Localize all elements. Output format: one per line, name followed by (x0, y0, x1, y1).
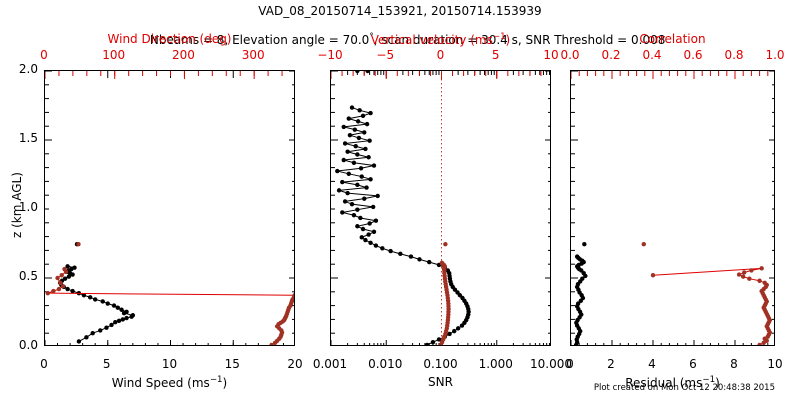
data-point (355, 183, 359, 187)
series-line (653, 268, 770, 345)
data-point (374, 219, 378, 223)
data-point (55, 276, 59, 280)
data-point (356, 119, 360, 123)
y-tick-label: 1.0 (19, 201, 38, 213)
x-tick-label: 0.010 (368, 358, 402, 370)
data-point (352, 213, 356, 217)
data-point (742, 270, 746, 274)
data-point (367, 221, 371, 225)
data-point (119, 308, 123, 312)
data-point (355, 152, 359, 156)
top-x-tick-label: 0.2 (601, 49, 620, 61)
data-point (427, 260, 431, 264)
x-tick-label: 6 (689, 358, 697, 370)
data-point (113, 320, 117, 324)
data-point (335, 169, 339, 173)
data-point (345, 150, 349, 154)
series-line (48, 269, 295, 345)
top-x-tick-label: 0 (437, 49, 445, 61)
data-point (343, 199, 347, 203)
data-point (63, 276, 67, 280)
top-x-tick-label: 100 (102, 49, 125, 61)
top-x-axis-label: Vertical velocity (ms−1) (371, 33, 510, 46)
data-point (417, 257, 421, 261)
data-point (46, 291, 50, 295)
data-point (60, 273, 64, 277)
data-point (372, 163, 376, 167)
data-point (84, 335, 88, 339)
data-point (363, 238, 367, 242)
data-point (358, 216, 362, 220)
x-tick-label: 8 (730, 358, 738, 370)
data-point (350, 105, 354, 109)
data-point (366, 232, 370, 236)
data-point (575, 254, 579, 258)
page-title: VAD_08_20150714_153921, 20150714.153939 (258, 5, 541, 17)
data-point (443, 242, 447, 246)
x-tick-label: 15 (225, 358, 240, 370)
y-tick-label: 0.5 (19, 270, 38, 282)
data-point (741, 274, 745, 278)
x-tick-label: 10 (767, 358, 782, 370)
data-point (352, 161, 356, 165)
data-point (76, 242, 80, 246)
y-tick-label: 0.0 (19, 339, 38, 351)
data-point (447, 332, 451, 336)
data-point (374, 243, 378, 247)
data-point (364, 185, 368, 189)
data-point (109, 323, 113, 327)
x-tick-label: 2 (607, 358, 615, 370)
data-point (343, 141, 347, 145)
data-point (759, 266, 763, 270)
data-point (366, 155, 370, 159)
data-point (388, 249, 392, 253)
data-point (345, 191, 349, 195)
x-tick-label: 20 (287, 358, 302, 370)
data-point (363, 147, 367, 151)
x-tick-label: 0.001 (313, 358, 347, 370)
data-point (757, 343, 761, 346)
data-point (360, 174, 364, 178)
data-point (398, 252, 402, 256)
data-point (72, 265, 76, 269)
data-point (361, 114, 365, 118)
top-x-tick-label: 10 (543, 49, 558, 61)
x-tick-label: 0 (566, 358, 574, 370)
data-point (367, 138, 371, 142)
data-point (106, 301, 110, 305)
data-point (65, 287, 69, 291)
top-x-tick-label: −10 (317, 49, 342, 61)
data-point (371, 205, 375, 209)
x-tick-label: 0 (40, 358, 48, 370)
data-point (70, 289, 74, 293)
data-point (104, 325, 108, 329)
data-point (112, 303, 116, 307)
data-point (355, 70, 359, 73)
data-point (452, 329, 456, 333)
data-point (131, 313, 135, 317)
data-point (342, 158, 346, 162)
top-x-axis-label: Wind Direction (deg) (108, 33, 232, 45)
data-point (124, 316, 128, 320)
data-point (582, 242, 586, 246)
y-tick-label: 2.0 (19, 63, 38, 75)
x-axis-label: Residual (ms−1) (625, 376, 720, 389)
data-point (651, 273, 655, 277)
data-point (361, 227, 365, 231)
data-point (368, 177, 372, 181)
panel-snr (330, 70, 551, 346)
data-point (348, 133, 352, 137)
data-point (431, 340, 435, 344)
data-point (357, 108, 361, 112)
top-x-tick-label: −5 (376, 49, 394, 61)
data-point (365, 122, 369, 126)
x-tick-label: 1.000 (479, 358, 513, 370)
top-x-tick-label: 0.6 (683, 49, 702, 61)
x-axis-label: Wind Speed (ms−1) (112, 376, 227, 389)
data-point (101, 299, 105, 303)
data-point (360, 235, 364, 239)
data-point (116, 305, 120, 309)
data-point (347, 172, 351, 176)
top-x-tick-label: 300 (242, 49, 265, 61)
data-point (440, 261, 444, 265)
top-x-axis-label: Correlation (639, 33, 705, 45)
x-tick-label: 5 (103, 358, 111, 370)
data-point (57, 287, 61, 291)
data-point (62, 267, 66, 271)
data-point (342, 125, 346, 129)
data-point (354, 144, 358, 148)
data-point (357, 136, 361, 140)
data-point (58, 281, 62, 285)
data-point (61, 284, 65, 288)
data-point (350, 202, 354, 206)
data-point (362, 196, 366, 200)
top-x-tick-label: 0.4 (642, 49, 661, 61)
data-point (642, 242, 646, 246)
data-point (375, 194, 379, 198)
data-point (359, 166, 363, 170)
panel-residual (570, 70, 775, 346)
top-x-tick-label: 1.0 (765, 49, 784, 61)
top-x-tick-label: 5 (492, 49, 500, 61)
data-point (77, 339, 81, 343)
data-point (757, 279, 761, 283)
data-point (409, 254, 413, 258)
data-point (124, 310, 128, 314)
plot-canvas: VAD_08_20150714_153921, 20150714.153939 … (0, 0, 800, 400)
data-point (117, 319, 121, 323)
top-x-tick-label: 200 (172, 49, 195, 61)
y-tick-label: 1.5 (19, 132, 38, 144)
data-point (337, 188, 341, 192)
data-point (749, 268, 753, 272)
data-point (353, 127, 357, 131)
data-point (368, 111, 372, 115)
data-point (90, 331, 94, 335)
data-point (372, 230, 376, 234)
data-point (355, 207, 359, 211)
data-point (355, 224, 359, 228)
x-tick-label: 4 (648, 358, 656, 370)
data-point (93, 297, 97, 301)
data-point (456, 326, 460, 330)
top-x-tick-label: 0.0 (560, 49, 579, 61)
x-axis-label: SNR (428, 376, 453, 388)
top-x-tick-label: 0 (40, 49, 48, 61)
x-tick-label: 0.100 (423, 358, 457, 370)
data-point (51, 289, 55, 293)
data-point (98, 328, 102, 332)
series-line (60, 266, 133, 341)
data-point (340, 180, 344, 184)
data-point (380, 246, 384, 250)
data-point (747, 276, 751, 280)
panel-wind (44, 70, 295, 346)
data-point (88, 295, 92, 299)
top-x-tick-label: 0.8 (724, 49, 743, 61)
data-point (347, 116, 351, 120)
data-point (737, 272, 741, 276)
data-point (340, 210, 344, 214)
data-point (368, 241, 372, 245)
data-point (763, 281, 767, 285)
data-point (362, 130, 366, 134)
x-tick-label: 10 (162, 358, 177, 370)
data-point (425, 343, 429, 346)
data-point (121, 317, 125, 321)
